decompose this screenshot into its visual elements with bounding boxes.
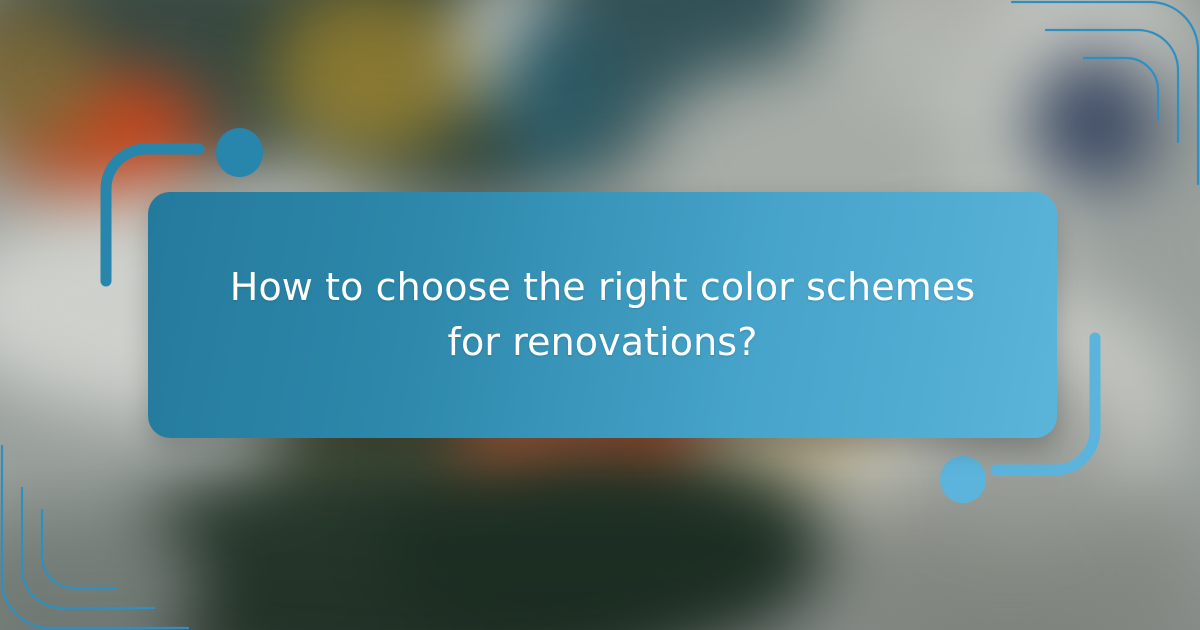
accent-dot-bottom	[940, 456, 986, 503]
social-card-canvas: How to choose the right color schemes fo…	[0, 0, 1200, 630]
title-card: How to choose the right color schemes fo…	[148, 192, 1057, 438]
accent-dot-top	[216, 128, 263, 177]
card-title: How to choose the right color schemes fo…	[214, 260, 991, 370]
